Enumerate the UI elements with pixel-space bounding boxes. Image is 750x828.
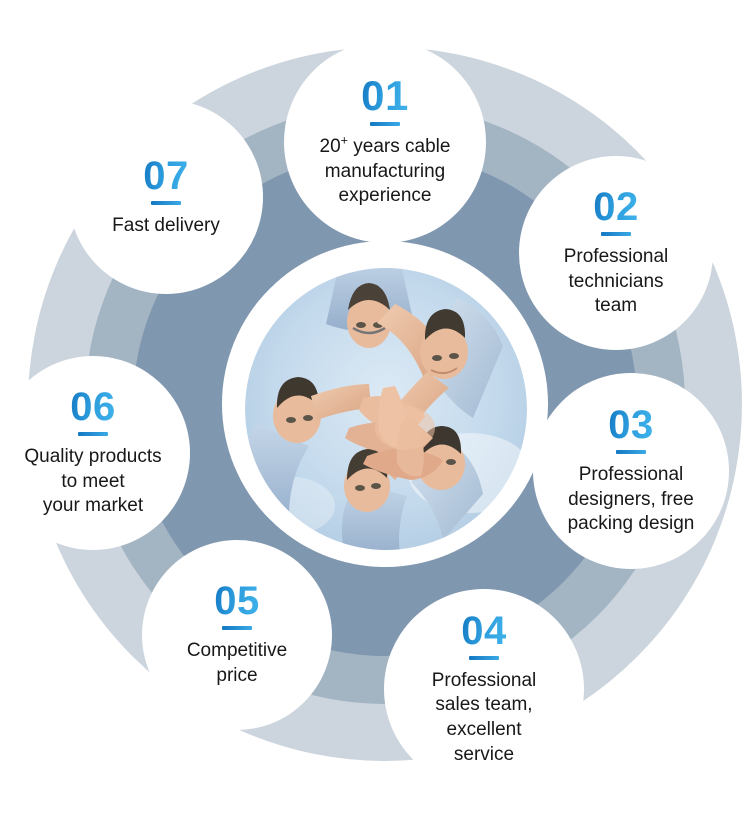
feature-number-01: 01 [361, 75, 409, 117]
feature-label-05: Competitive price [157, 639, 317, 688]
feature-label-06: Quality products to meet your market [0, 445, 193, 519]
infographic-canvas: 01 20+ years cable manufacturing experie… [0, 0, 750, 828]
number-underline-01 [370, 122, 400, 126]
number-underline-03 [616, 450, 646, 454]
feature-bubble-07[interactable]: 07 Fast delivery [81, 112, 251, 282]
feature-label-03: Professional designers, free packing des… [541, 463, 721, 537]
feature-bubble-02[interactable]: 02 Professional technicians team [531, 168, 701, 338]
feature-number-05: 05 [214, 581, 260, 621]
feature-number-07: 07 [143, 156, 189, 196]
feature-label-01-prefix: 20 [320, 136, 341, 157]
feature-label-01: 20+ years cable manufacturing experience [294, 135, 476, 209]
number-underline-07 [151, 201, 181, 205]
feature-bubble-01[interactable]: 01 20+ years cable manufacturing experie… [296, 53, 474, 231]
feature-number-02: 02 [593, 187, 639, 227]
number-underline-06 [78, 432, 108, 436]
feature-label-02: Professional technicians team [536, 245, 696, 319]
feature-number-04: 04 [461, 611, 507, 651]
feature-label-01-superscript: + [341, 134, 348, 148]
team-handstack-photo [245, 268, 527, 550]
feature-number-03: 03 [608, 405, 654, 445]
feature-label-07: Fast delivery [76, 214, 256, 239]
feature-bubble-04[interactable]: 04 Professional sales team, excellent se… [396, 601, 572, 777]
team-photo-illustration [245, 268, 527, 550]
number-underline-02 [601, 232, 631, 236]
number-underline-05 [222, 626, 252, 630]
feature-bubble-06[interactable]: 06 Quality products to meet your market [8, 368, 178, 538]
feature-label-04: Professional sales team, excellent servi… [404, 669, 564, 768]
feature-number-06: 06 [70, 387, 116, 427]
feature-bubble-03[interactable]: 03 Professional designers, free packing … [545, 385, 717, 557]
feature-bubble-05[interactable]: 05 Competitive price [153, 551, 321, 719]
number-underline-04 [469, 656, 499, 660]
